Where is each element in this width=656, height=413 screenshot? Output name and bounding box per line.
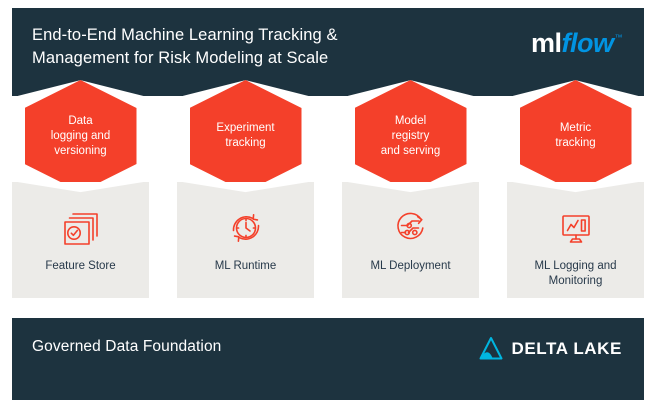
hexagon-badge-data-logging[interactable]: Data logging and versioning	[25, 80, 137, 192]
hexagon-badge-model-registry[interactable]: Model registry and serving	[355, 80, 467, 192]
mlflow-trademark-icon: ™	[615, 34, 623, 42]
hexagon-badge-label: Data logging and versioning	[45, 114, 116, 159]
hexagon-badge-experiment-tracking[interactable]: Experiment tracking	[190, 80, 302, 192]
slide-canvas: End-to-End Machine Learning Tracking & M…	[0, 0, 656, 413]
mlflow-logo: mlflow™	[531, 30, 622, 57]
pillar-card-label: ML Runtime	[211, 259, 281, 274]
stacked-layers-check-icon	[57, 206, 105, 250]
hexagon-badge-metric-tracking[interactable]: Metric tracking	[520, 80, 632, 192]
header-bar: End-to-End Machine Learning Tracking & M…	[12, 8, 644, 96]
delta-lake-mark-icon	[478, 336, 504, 362]
node-network-refresh-icon	[387, 206, 435, 250]
pillar-card-row: Feature Store ML Runtime	[12, 182, 644, 298]
pillar-card-ml-deployment[interactable]: ML Deployment	[342, 182, 479, 298]
delta-lake-logo: DELTA LAKE	[478, 336, 622, 362]
mlflow-logo-ml-text: ml	[531, 30, 562, 57]
pillar-card-label: ML Deployment	[366, 259, 454, 274]
monitor-chart-icon	[552, 206, 600, 250]
pillar-card-label: ML Logging and Monitoring	[530, 259, 620, 289]
hexagon-badge-label: Metric tracking	[549, 121, 601, 151]
pillar-card-label: Feature Store	[41, 259, 119, 274]
hexagon-badge-label: Model registry and serving	[375, 114, 446, 159]
clock-refresh-icon	[222, 206, 270, 250]
footer-title: Governed Data Foundation	[32, 338, 221, 356]
mlflow-logo-flow-text: flow	[562, 30, 614, 57]
pillar-card-feature-store[interactable]: Feature Store	[12, 182, 149, 298]
pillar-card-ml-runtime[interactable]: ML Runtime	[177, 182, 314, 298]
pillar-card-ml-logging-monitoring[interactable]: ML Logging and Monitoring	[507, 182, 644, 298]
hexagon-badge-label: Experiment tracking	[210, 121, 280, 151]
delta-lake-logo-text: DELTA LAKE	[511, 339, 622, 359]
footer-bar: Governed Data Foundation DELTA LAKE	[12, 318, 644, 400]
page-title: End-to-End Machine Learning Tracking & M…	[32, 24, 452, 70]
